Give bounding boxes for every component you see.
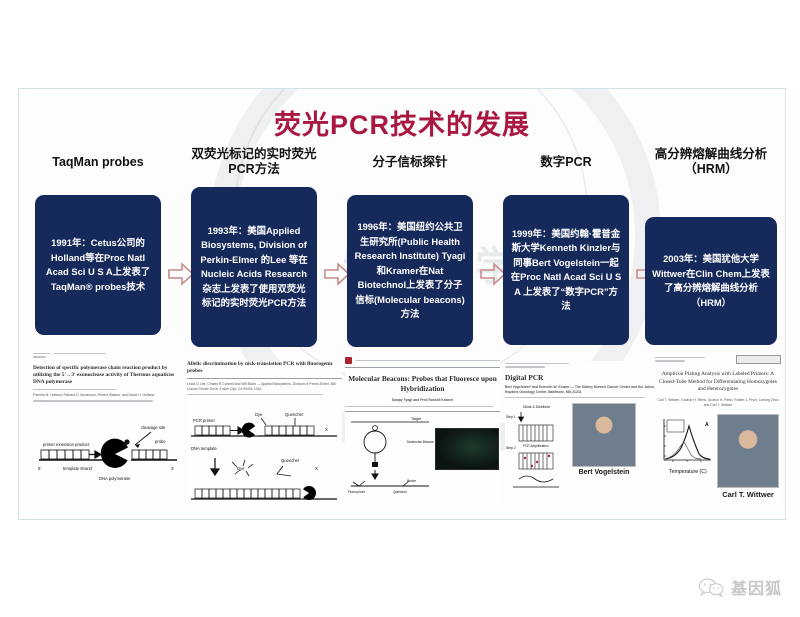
chart-x-axis-label: Temperature (C) — [669, 469, 707, 475]
taqman-diagram: cleavage site probe primer extension pro… — [33, 412, 183, 484]
step-column-1: TaqMan probes 1991年：Cetus公司的Holland等在Pro… — [35, 155, 161, 335]
nick-translation-diagram: X Dye Quencher PCR primer DNA template D… — [187, 404, 342, 504]
label-dye-1: Dye — [255, 412, 263, 417]
label-template-strand: template strand — [63, 466, 93, 471]
photo-bert-vogelstein — [572, 403, 636, 467]
label-dna-polymerase: DNA polymerase — [99, 476, 131, 481]
label-dye-2: Dye — [237, 466, 245, 471]
label-quencher-1: Quencher — [285, 412, 304, 417]
photo-caption-carl: Carl T. Wittwer — [717, 490, 779, 499]
label-target: Target — [411, 417, 421, 421]
step-box-1[interactable]: 1991年：Cetus公司的Holland等在Proc Natl Acad Sc… — [35, 195, 161, 335]
step-box-3[interactable]: 1996年：美国纽约公共卫生研究所(Public Health Research… — [347, 195, 473, 347]
label-step-1: Step 1 — [506, 415, 516, 419]
paper-thumb-4[interactable]: Digital PCR Bert Vogelstein* and Kenneth… — [505, 361, 657, 507]
paper-authors-1: Pamela M. Holland, Richard D. Abramson, … — [33, 393, 183, 398]
label-probe: probe — [155, 439, 166, 444]
step-column-3: 分子信标探针 1996年：美国纽约公共卫生研究所(Public Health R… — [347, 155, 473, 347]
journal-logo-icon — [345, 357, 352, 364]
label-fluorophore: Fluorophore — [348, 490, 365, 494]
step-heading-2: 双荧光标记的实时荧光PCR方法 — [191, 147, 317, 181]
paper-thumb-5[interactable]: Amplicon Plating Analysis with Labeled P… — [655, 355, 781, 507]
wechat-footer: 基因狐 — [698, 575, 782, 599]
label-dilute: Dilute & Distribute — [523, 405, 550, 409]
label-quencher-3: Quencher — [393, 490, 408, 494]
step-box-4[interactable]: 1999年：美国约翰·霍普金斯大学Kenneth Kinzler与同事Bert … — [503, 195, 629, 345]
step-heading-4: 数字PCR — [503, 155, 629, 189]
label-amplify: PCR Amplification — [523, 444, 549, 448]
label-5-prime: 5' — [38, 466, 41, 471]
journal-badge — [736, 355, 781, 364]
label-cleavage-site: cleavage site — [141, 425, 166, 430]
wechat-account-name: 基因狐 — [731, 575, 782, 599]
paper-thumb-3[interactable]: Molecular Beacons: Probes that Fluoresce… — [345, 357, 500, 507]
label-primer-extension: primer extension product — [43, 442, 90, 447]
step-column-4: 数字PCR 1999年：美国约翰·霍普金斯大学Kenneth Kinzler与同… — [503, 155, 629, 345]
label-3-prime: 3' — [171, 466, 174, 471]
paper-authors-5: Carl T. Wittwer, Gudrun H. Reed, Gudrun … — [655, 398, 781, 408]
paper-authors-3: Sanjay Tyagi and Fred Russell Kramer — [345, 398, 500, 403]
paper-thumb-2[interactable]: Allelic discrimination by nick-translati… — [187, 361, 342, 506]
paper-title-4: Digital PCR — [505, 374, 657, 381]
step-heading-5: 高分辨熔解曲线分析（HRM） — [645, 147, 777, 181]
digital-pcr-diagram: Dilute & Distribute Step 1 Step 2 PCR Am… — [505, 403, 567, 495]
page-title: 荧光PCR技术的发展 — [19, 103, 785, 142]
molecular-beacon-diagram: Target Molecular Beacon Probe Fluorophor… — [345, 416, 435, 494]
photo-carl-wittwer — [717, 414, 779, 488]
label-step-2: Step 2 — [506, 446, 516, 450]
chart-panel-label: A — [705, 422, 709, 428]
step-box-5[interactable]: 2003年：美国犹他大学Wittwer在Clin Chem上发表了高分辨熔解曲线… — [645, 217, 777, 345]
wechat-icon — [698, 578, 724, 597]
label-x-2: X — [315, 466, 318, 471]
label-beacon: Molecular Beacon — [407, 440, 434, 444]
paper-authors-4: Bert Vogelstein* and Kenneth W. Kinzler … — [505, 385, 657, 395]
melting-curve-chart: A Temperature (C) — [655, 414, 713, 476]
photo-caption-bert: Bert Vogelstein — [572, 469, 636, 476]
fluorescence-micrograph — [435, 428, 499, 470]
paper-thumb-1[interactable]: Detection of specific polymerase chain r… — [33, 351, 183, 501]
step-column-2: 双荧光标记的实时荧光PCR方法 1993年：美国Applied Biosyste… — [191, 147, 317, 347]
paper-authors-2: Linda G Lee, Chales R Connell and Will B… — [187, 382, 342, 392]
step-column-5: 高分辨熔解曲线分析（HRM） 2003年：美国犹他大学Wittwer在Clin … — [645, 147, 777, 345]
label-dna-template: DNA template — [191, 446, 218, 451]
paper-title-1: Detection of specific polymerase chain r… — [33, 365, 183, 386]
paper-title-5: Amplicon Plating Analysis with Labeled P… — [655, 371, 781, 394]
slide-canvas: 生物科学 检验 荧光PCR技术的发展 TaqMan probes 1991年：C… — [18, 88, 786, 520]
step-box-2[interactable]: 1993年：美国Applied Biosystems, Division of … — [191, 187, 317, 347]
label-pcr-primer: PCR primer — [193, 418, 215, 423]
label-quencher-2: Quencher — [281, 458, 300, 463]
paper-title-2: Allelic discrimination by nick-translati… — [187, 361, 342, 375]
label-x-1: X — [325, 427, 328, 432]
step-heading-1: TaqMan probes — [35, 155, 161, 189]
paper-title-3: Molecular Beacons: Probes that Fluoresce… — [345, 374, 500, 394]
label-probe-3: Probe — [407, 479, 416, 483]
step-heading-3: 分子信标探针 — [347, 155, 473, 189]
